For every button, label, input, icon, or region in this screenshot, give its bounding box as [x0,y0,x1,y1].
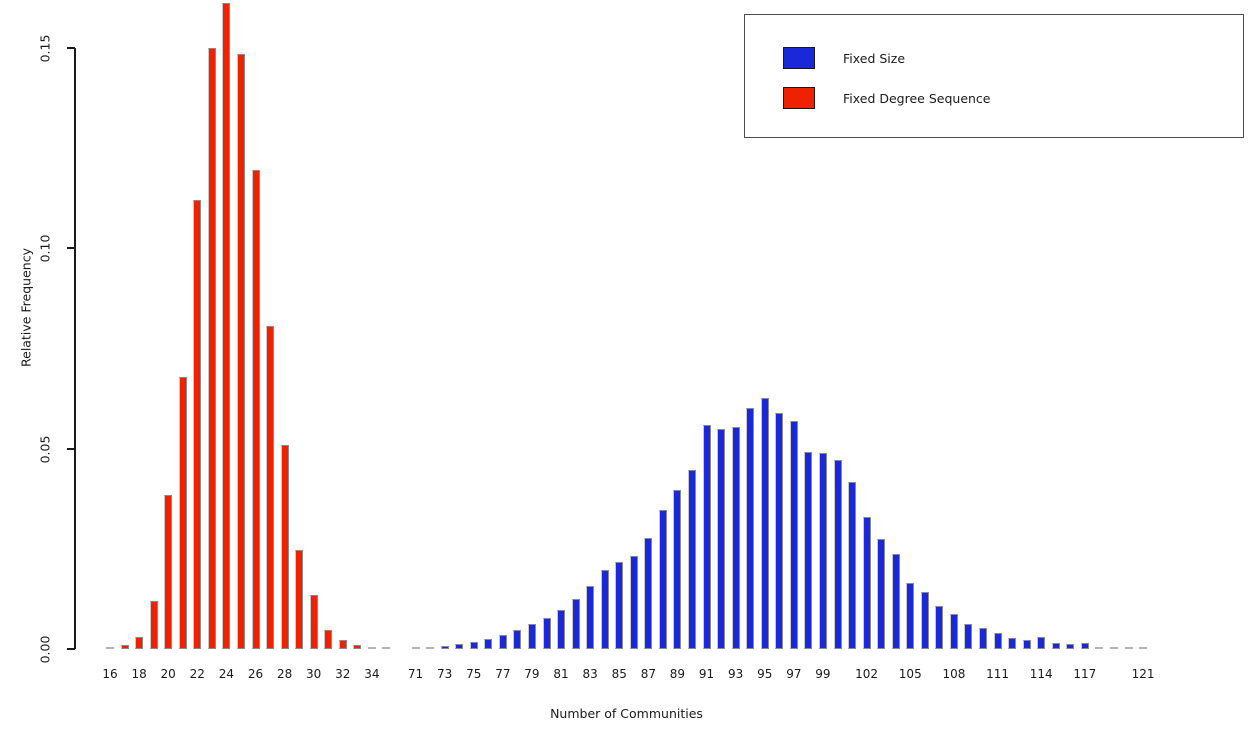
x-axis-title: Number of Communities [0,706,1253,721]
legend-item-label: Fixed Size [843,51,905,66]
histogram-figure: 0.000.050.100.15 16182022242628303234717… [0,0,1253,729]
y-axis-tick-label-text: 0.00 [38,633,53,667]
bar [964,624,972,649]
bar [135,637,143,649]
bar [790,421,798,649]
bar [746,408,754,649]
x-axis-tick-label: 32 [335,667,350,681]
bar [368,647,376,649]
bar [150,601,158,649]
x-axis-tick-label: 85 [612,667,627,681]
x-axis-tick-label: 102 [855,667,878,681]
bar [819,453,827,649]
bar [499,635,507,649]
y-axis-tick-label-text: 0.10 [38,232,53,266]
x-axis-tick-label: 95 [757,667,772,681]
bar [1081,643,1089,649]
x-axis-tick-label: 34 [364,667,379,681]
bar [979,628,987,649]
x-axis-tick-label: 16 [102,667,117,681]
bar [208,48,216,649]
bar [906,583,914,649]
bar [804,452,812,649]
legend-item-label: Fixed Degree Sequence [843,91,991,106]
x-axis-tick-label: 28 [277,667,292,681]
bar [412,647,420,649]
y-axis-tick [67,448,75,450]
y-axis-cap [68,648,75,650]
legend-color-swatch [783,47,815,69]
x-axis-tick-label: 79 [524,667,539,681]
x-axis-tick-label: 89 [670,667,685,681]
y-axis-tick-label: 0.00 [28,642,62,656]
bar [179,377,187,649]
x-axis-tick-label: 18 [131,667,146,681]
bar [426,647,434,649]
bar [892,554,900,649]
y-axis-tick-label-text: 0.15 [38,32,53,66]
x-axis-tick-label: 105 [899,667,922,681]
bar [382,647,390,649]
bar [688,470,696,649]
x-axis-tick-label: 75 [466,667,481,681]
x-axis-tick-label: 30 [306,667,321,681]
bar [586,586,594,649]
bar [484,639,492,649]
bar [353,645,361,649]
x-axis-tick-label: 93 [728,667,743,681]
bar [848,482,856,649]
x-axis-tick-label: 83 [583,667,598,681]
bar [921,592,929,649]
bar [601,570,609,649]
bar [1052,643,1060,649]
bar [673,490,681,649]
x-axis-tick-label: 22 [190,667,205,681]
bar [1095,647,1103,649]
x-axis-tick-label: 114 [1030,667,1053,681]
bar [310,595,318,649]
bar [324,630,332,649]
bar [1066,644,1074,649]
bar [1008,638,1016,649]
bar [703,425,711,649]
bar [1037,637,1045,649]
x-axis-tick-label: 71 [408,667,423,681]
bar [994,633,1002,649]
bar [1139,647,1147,649]
x-axis-tick-label: 81 [553,667,568,681]
bar [513,630,521,649]
bar [121,645,129,649]
x-axis-tick-label: 77 [495,667,510,681]
bar [950,614,958,649]
bar [659,510,667,649]
x-axis-tick-label: 20 [161,667,176,681]
bar [237,54,245,649]
x-axis-tick-label: 117 [1073,667,1096,681]
bar [470,642,478,649]
bar [441,646,449,649]
x-axis-tick-label: 87 [641,667,656,681]
x-axis-tick-label: 99 [815,667,830,681]
bar [164,495,172,649]
bar [557,610,565,649]
x-axis-tick-label: 111 [986,667,1009,681]
bar [295,550,303,649]
legend: Fixed SizeFixed Degree Sequence [744,14,1244,138]
legend-color-swatch [783,87,815,109]
bar [266,326,274,649]
bar [193,200,201,649]
bar [281,445,289,649]
bar [455,644,463,649]
bar [615,562,623,649]
x-axis-tick-label: 121 [1132,667,1155,681]
bar [877,539,885,649]
x-axis-tick-label: 108 [942,667,965,681]
bar [1023,640,1031,649]
bar [572,599,580,649]
bar [630,556,638,649]
bar [252,170,260,649]
bar [222,3,230,649]
bar [863,517,871,649]
x-axis-tick-label: 73 [437,667,452,681]
y-axis-tick-label: 0.15 [28,41,62,55]
bar [775,413,783,649]
plot-area: 0.000.050.100.15 16182022242628303234717… [0,0,1253,729]
y-axis-line [74,48,76,649]
y-axis-tick [67,247,75,249]
bar [528,624,536,649]
bar [1110,647,1118,649]
x-axis-tick-label: 91 [699,667,714,681]
bar [543,618,551,649]
x-axis-tick-label: 97 [786,667,801,681]
bar [834,460,842,649]
bar [644,538,652,649]
x-axis-tick-label: 26 [248,667,263,681]
bar [935,606,943,649]
bar [761,398,769,649]
x-axis-tick-label: 24 [219,667,234,681]
y-axis-title: Relative Frequency [19,238,34,378]
y-axis-cap [68,47,75,49]
y-axis-tick-label: 0.05 [28,442,62,456]
bar [717,429,725,649]
bar [732,427,740,649]
bar [1125,647,1133,649]
y-axis-tick-label-text: 0.05 [38,432,53,466]
bar [339,640,347,649]
bar [106,647,114,649]
